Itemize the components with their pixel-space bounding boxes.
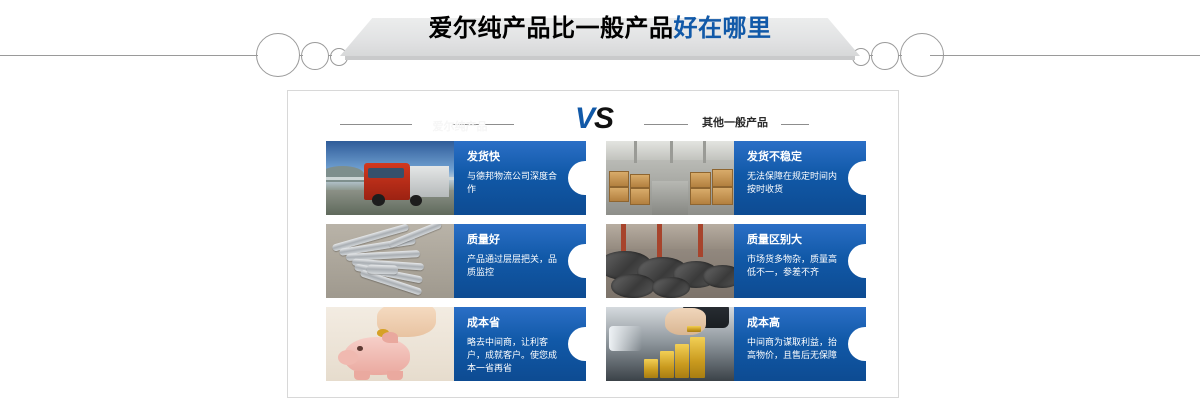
vs-rule-d — [781, 124, 809, 125]
header-rule-right — [930, 55, 1200, 56]
decorative-circle-left-medium — [301, 42, 329, 70]
page-title-accent: 好在哪里 — [674, 15, 772, 42]
gold-coins-thumbnail — [606, 307, 734, 381]
advantage-card-desc: 产品通过层层把关，品质监控 — [467, 253, 560, 279]
advantage-card[interactable]: 质量好 产品通过层层把关，品质监控 — [326, 224, 586, 298]
connector-left-2 — [328, 55, 332, 56]
page-title-main: 爱尔纯产品比一般产品 — [429, 15, 674, 42]
drawback-card-title: 成本高 — [747, 316, 840, 330]
our-products-column: 发货快 与德邦物流公司深度合作 — [326, 141, 586, 390]
drawback-card-body: 质量区别大 市场货多物杂，质量高低不一，参差不齐 — [734, 224, 866, 298]
connector-right-2 — [869, 55, 873, 56]
drawback-card[interactable]: 质量区别大 市场货多物杂，质量高低不一，参差不齐 — [606, 224, 866, 298]
advantage-card-desc: 与德邦物流公司深度合作 — [467, 170, 560, 196]
connector-left-1 — [299, 55, 303, 56]
other-products-column: 发货不稳定 无法保障在规定时间内按时收货 — [606, 141, 866, 390]
drawback-card-title: 发货不稳定 — [747, 150, 840, 164]
vs-header-bar: 爱尔纯产品 VS 其他一般产品 — [288, 101, 900, 139]
vs-letter-v: V — [575, 102, 594, 135]
advantage-card-desc: 略去中间商，让利客户，成就客户。使您成本一省再省 — [467, 336, 560, 375]
advantage-card[interactable]: 成本省 略去中间商，让利客户，成就客户。使您成本一省再省 — [326, 307, 586, 381]
drawback-card-desc: 中间商为谋取利益，抬高物价，且售后无保障 — [747, 336, 840, 362]
drawback-card-title: 质量区别大 — [747, 233, 840, 247]
advantage-card-body: 成本省 略去中间商，让利客户，成就客户。使您成本一省再省 — [454, 307, 586, 381]
advantage-card-title: 发货快 — [467, 150, 560, 164]
advantage-card-body: 发货快 与德邦物流公司深度合作 — [454, 141, 586, 215]
vs-rule-c — [644, 124, 688, 125]
piggy-bank-thumbnail — [326, 307, 454, 381]
comparison-panel: 爱尔纯产品 VS 其他一般产品 发货快 与德邦物流公司深度合作 — [287, 90, 899, 398]
steel-pipes-thumbnail — [326, 224, 454, 298]
page-header: 爱尔纯产品比一般产品好在哪里 — [0, 0, 1200, 80]
page-title: 爱尔纯产品比一般产品好在哪里 — [0, 12, 1200, 46]
drawback-card[interactable]: 发货不稳定 无法保障在规定时间内按时收货 — [606, 141, 866, 215]
advantage-card-body: 质量好 产品通过层层把关，品质监控 — [454, 224, 586, 298]
dark-pipes-thumbnail — [606, 224, 734, 298]
title-banner-base — [345, 56, 855, 60]
warehouse-thumbnail — [606, 141, 734, 215]
decorative-circle-right-medium — [871, 42, 899, 70]
our-products-label: 爱尔纯产品 — [400, 119, 520, 135]
drawback-card-body: 成本高 中间商为谋取利益，抬高物价，且售后无保障 — [734, 307, 866, 381]
vs-letter-s: S — [594, 102, 613, 135]
promo-comparison-banner: 爱尔纯产品比一般产品好在哪里 爱尔纯产品 VS 其他一般产品 — [0, 0, 1200, 400]
connector-right-3 — [898, 55, 902, 56]
drawback-card-desc: 市场货多物杂，质量高低不一，参差不齐 — [747, 253, 840, 279]
advantage-card-title: 成本省 — [467, 316, 560, 330]
vs-badge: VS — [556, 101, 632, 137]
advantage-card[interactable]: 发货快 与德邦物流公司深度合作 — [326, 141, 586, 215]
truck-thumbnail — [326, 141, 454, 215]
drawback-card[interactable]: 成本高 中间商为谋取利益，抬高物价，且售后无保障 — [606, 307, 866, 381]
advantage-card-title: 质量好 — [467, 233, 560, 247]
drawback-card-desc: 无法保障在规定时间内按时收货 — [747, 170, 840, 196]
header-rule-left — [0, 55, 258, 56]
drawback-card-body: 发货不稳定 无法保障在规定时间内按时收货 — [734, 141, 866, 215]
other-products-label: 其他一般产品 — [688, 114, 782, 132]
